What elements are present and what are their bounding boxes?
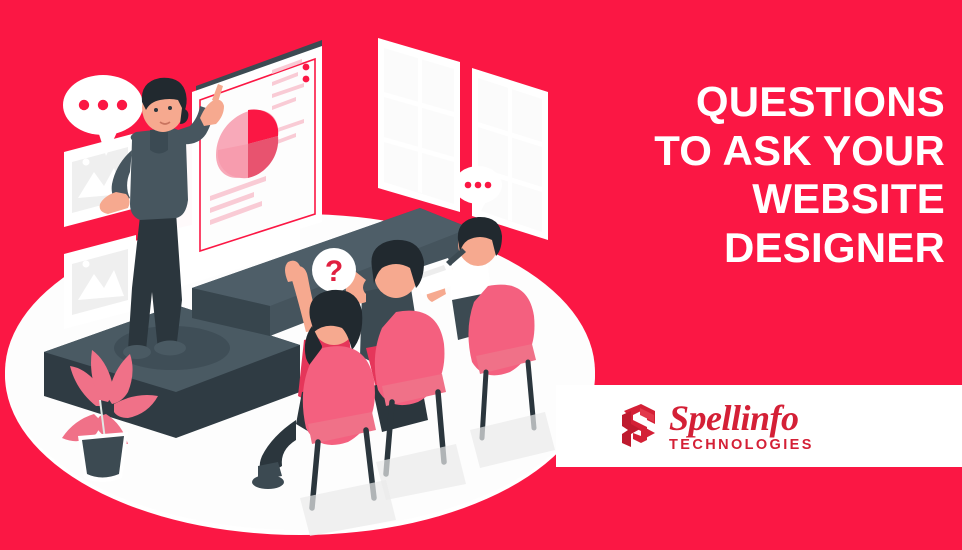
headline-line-2: TO ASK YOUR (525, 127, 945, 176)
headline-line-3: WEBSITE (525, 175, 945, 224)
headline-line-1: QUESTIONS (525, 78, 945, 127)
page-title: QUESTIONS TO ASK YOUR WEBSITE DESIGNER (525, 78, 945, 273)
window-left (378, 38, 460, 212)
logo-wordmark-group: Spellinfo TECHNOLOGIES (669, 400, 814, 453)
headline-line-4: DESIGNER (525, 224, 945, 273)
logo-wordmark: Spellinfo (669, 400, 799, 436)
spellinfo-s-arrow-icon (614, 402, 658, 450)
brand-logo-bar: Spellinfo TECHNOLOGIES (556, 385, 962, 467)
svg-text:?: ? (325, 255, 343, 288)
promotional-banner: ? (0, 0, 962, 550)
meeting-room-illustration: ? (0, 0, 600, 550)
logo-subtitle: TECHNOLOGIES (669, 438, 814, 453)
